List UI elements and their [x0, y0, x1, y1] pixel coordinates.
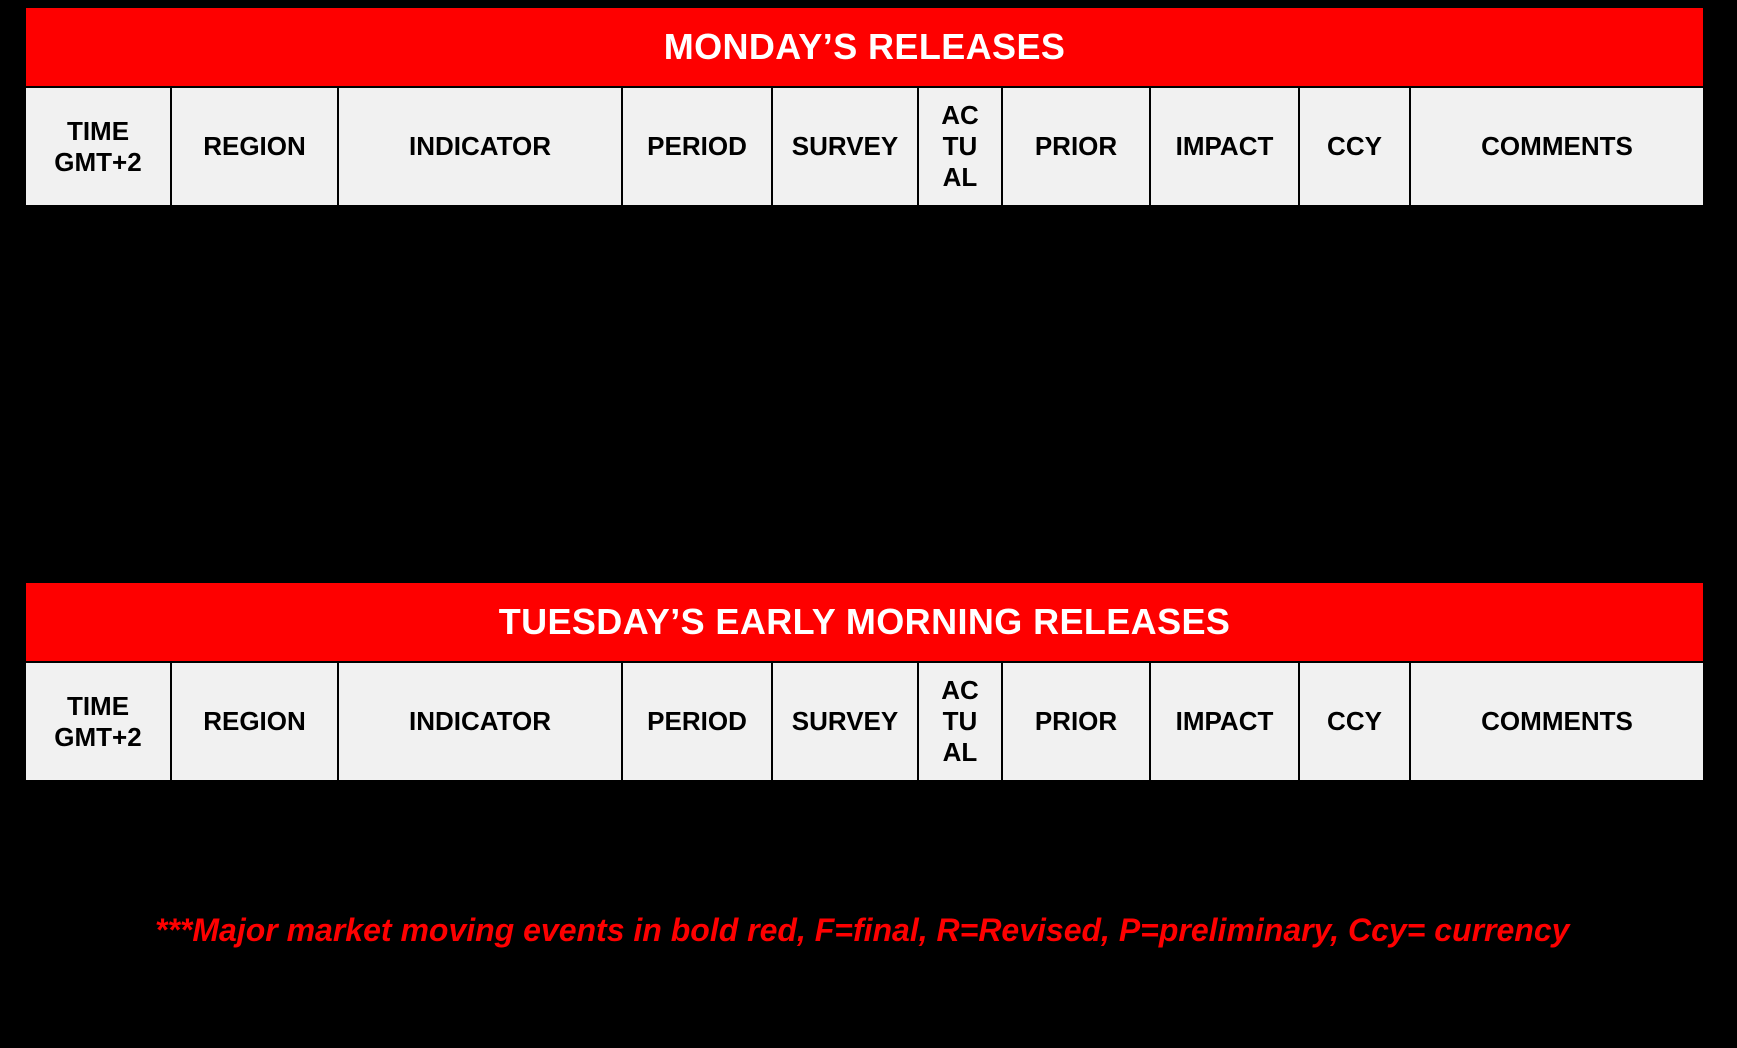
- column-header-region[interactable]: REGION: [171, 662, 338, 780]
- column-header-time-line2: GMT+2: [28, 722, 168, 753]
- column-header-time[interactable]: TIME GMT+2: [26, 87, 171, 205]
- banner-tuesday: TUESDAY’S EARLY MORNING RELEASES: [26, 583, 1703, 661]
- column-header-ccy[interactable]: CCY: [1299, 662, 1410, 780]
- column-header-prior[interactable]: PRIOR: [1002, 87, 1150, 205]
- page-root: MONDAY’S RELEASES TIME GMT+2 REGION INDI…: [0, 0, 1737, 1048]
- column-header-time-line1: TIME: [28, 691, 168, 722]
- column-header-actual-line2: TU: [921, 706, 999, 737]
- column-header-actual[interactable]: AC TU AL: [918, 662, 1002, 780]
- column-header-indicator[interactable]: INDICATOR: [338, 662, 622, 780]
- column-header-actual-line2: TU: [921, 131, 999, 162]
- release-block-tuesday: TUESDAY’S EARLY MORNING RELEASES TIME GM…: [26, 583, 1703, 780]
- release-table-tuesday: TIME GMT+2 REGION INDICATOR PERIOD SURVE…: [26, 661, 1703, 780]
- legend-footnote: ***Major market moving events in bold re…: [155, 913, 1605, 948]
- column-header-time-line1: TIME: [28, 116, 168, 147]
- column-header-comments[interactable]: COMMENTS: [1410, 662, 1703, 780]
- column-header-region[interactable]: REGION: [171, 87, 338, 205]
- column-header-period[interactable]: PERIOD: [622, 662, 772, 780]
- table-header-row: TIME GMT+2 REGION INDICATOR PERIOD SURVE…: [26, 662, 1703, 780]
- column-header-impact[interactable]: IMPACT: [1150, 87, 1299, 205]
- release-table-monday: TIME GMT+2 REGION INDICATOR PERIOD SURVE…: [26, 86, 1703, 205]
- column-header-survey[interactable]: SURVEY: [772, 662, 918, 780]
- column-header-period[interactable]: PERIOD: [622, 87, 772, 205]
- column-header-survey[interactable]: SURVEY: [772, 87, 918, 205]
- banner-title-tuesday: TUESDAY’S EARLY MORNING RELEASES: [499, 604, 1231, 640]
- column-header-actual-line3: AL: [921, 162, 999, 193]
- table-header-row: TIME GMT+2 REGION INDICATOR PERIOD SURVE…: [26, 87, 1703, 205]
- column-header-time-line2: GMT+2: [28, 147, 168, 178]
- column-header-ccy[interactable]: CCY: [1299, 87, 1410, 205]
- column-header-actual[interactable]: AC TU AL: [918, 87, 1002, 205]
- column-header-actual-line1: AC: [921, 100, 999, 131]
- banner-monday: MONDAY’S RELEASES: [26, 8, 1703, 86]
- release-block-monday: MONDAY’S RELEASES TIME GMT+2 REGION INDI…: [26, 8, 1703, 205]
- column-header-actual-line3: AL: [921, 737, 999, 768]
- column-header-prior[interactable]: PRIOR: [1002, 662, 1150, 780]
- banner-title-monday: MONDAY’S RELEASES: [664, 29, 1066, 65]
- column-header-actual-line1: AC: [921, 675, 999, 706]
- column-header-indicator[interactable]: INDICATOR: [338, 87, 622, 205]
- column-header-impact[interactable]: IMPACT: [1150, 662, 1299, 780]
- column-header-comments[interactable]: COMMENTS: [1410, 87, 1703, 205]
- column-header-time[interactable]: TIME GMT+2: [26, 662, 171, 780]
